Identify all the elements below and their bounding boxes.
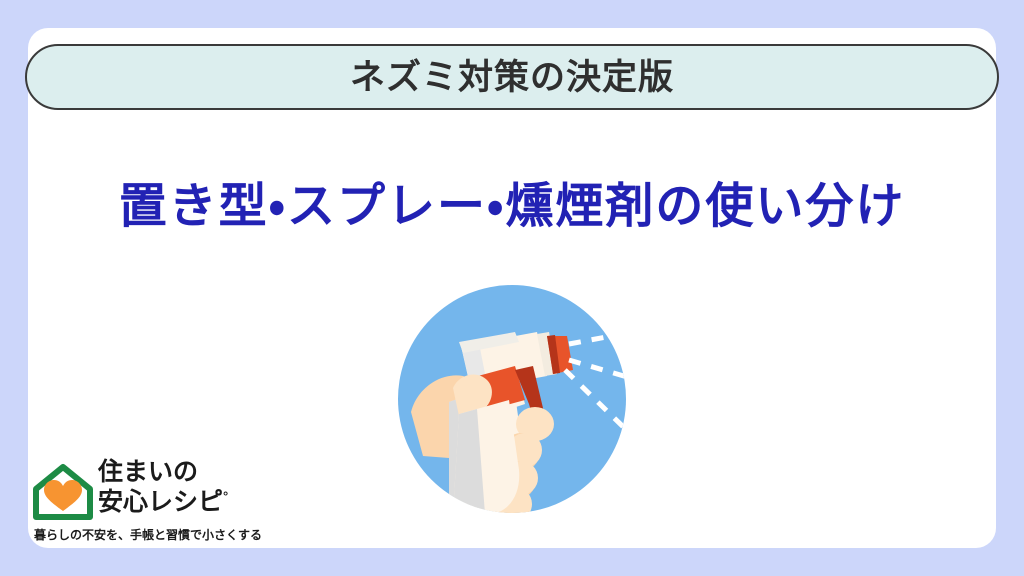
eyecatch-canvas: ネズミ対策の決定版 置き型・スプレー・燻煙剤の使い分け — [0, 0, 1024, 576]
heart-shape — [44, 480, 82, 511]
site-logo: 住まいの 安心レシピ° 暮らしの不安を、手帳と習慣で小さくする — [32, 458, 252, 550]
header-badge-label: ネズミ対策の決定版 — [350, 60, 674, 95]
logo-line-2: 安心レシピ — [98, 488, 223, 516]
logo-degree-mark: ° — [223, 488, 228, 503]
logo-wordmark: 住まいの 安心レシピ° — [98, 458, 228, 517]
page-title-text: 置き型・スプレー・燻煙剤の使い分け — [0, 178, 1024, 236]
logo-line-1: 住まいの — [98, 458, 228, 488]
spray-bottle-illustration — [397, 284, 627, 514]
page-title: 置き型・スプレー・燻煙剤の使い分け — [0, 178, 1024, 236]
house-heart-icon — [32, 462, 94, 522]
header-badge: ネズミ対策の決定版 — [25, 44, 999, 110]
logo-tagline: 暮らしの不安を、手帳と習慣で小さくする — [34, 526, 262, 543]
logo-line-2-wrap: 安心レシピ° — [98, 488, 228, 518]
